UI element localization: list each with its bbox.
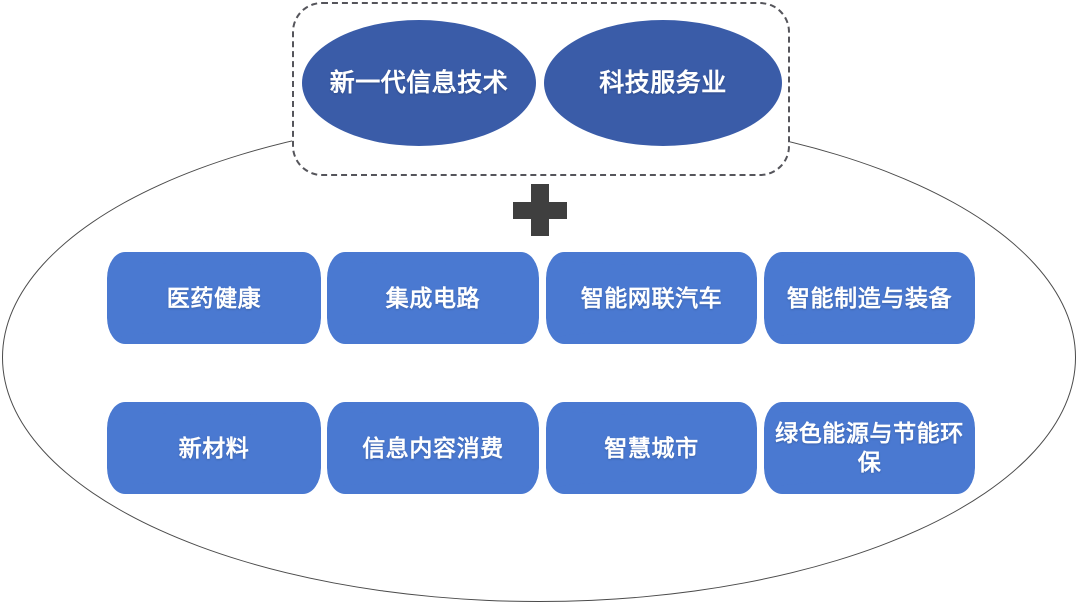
node-new-materials-label: 新材料 (173, 434, 256, 463)
ellipse-tech-services-label: 科技服务业 (599, 68, 727, 99)
plus-icon-vertical-bar (531, 184, 549, 236)
node-smart-manufacturing-equipment-label: 智能制造与装备 (781, 284, 958, 313)
node-green-energy-conservation[interactable]: 绿色能源与节能环保 (764, 402, 975, 494)
ellipse-tech-services[interactable]: 科技服务业 (544, 20, 782, 146)
ellipse-new-gen-it[interactable]: 新一代信息技术 (302, 20, 536, 146)
node-smart-city[interactable]: 智慧城市 (546, 402, 757, 494)
node-pharma-health[interactable]: 医药健康 (107, 252, 321, 344)
node-smart-connected-vehicles[interactable]: 智能网联汽车 (546, 252, 757, 344)
node-integrated-circuits[interactable]: 集成电路 (327, 252, 539, 344)
node-smart-manufacturing-equipment[interactable]: 智能制造与装备 (764, 252, 975, 344)
node-integrated-circuits-label: 集成电路 (380, 284, 486, 313)
node-smart-connected-vehicles-label: 智能网联汽车 (575, 284, 729, 313)
node-info-content-consumption-label: 信息内容消费 (356, 434, 510, 463)
ellipse-new-gen-it-label: 新一代信息技术 (330, 68, 509, 99)
node-pharma-health-label: 医药健康 (161, 284, 267, 313)
node-new-materials[interactable]: 新材料 (107, 402, 321, 494)
plus-icon (505, 182, 575, 236)
node-smart-city-label: 智慧城市 (598, 434, 704, 463)
node-info-content-consumption[interactable]: 信息内容消费 (327, 402, 539, 494)
diagram-canvas: 新一代信息技术 科技服务业 医药健康 集成电路 智能网联汽车 智能制造与装备 新… (0, 0, 1080, 613)
node-green-energy-conservation-label: 绿色能源与节能环保 (764, 419, 975, 477)
